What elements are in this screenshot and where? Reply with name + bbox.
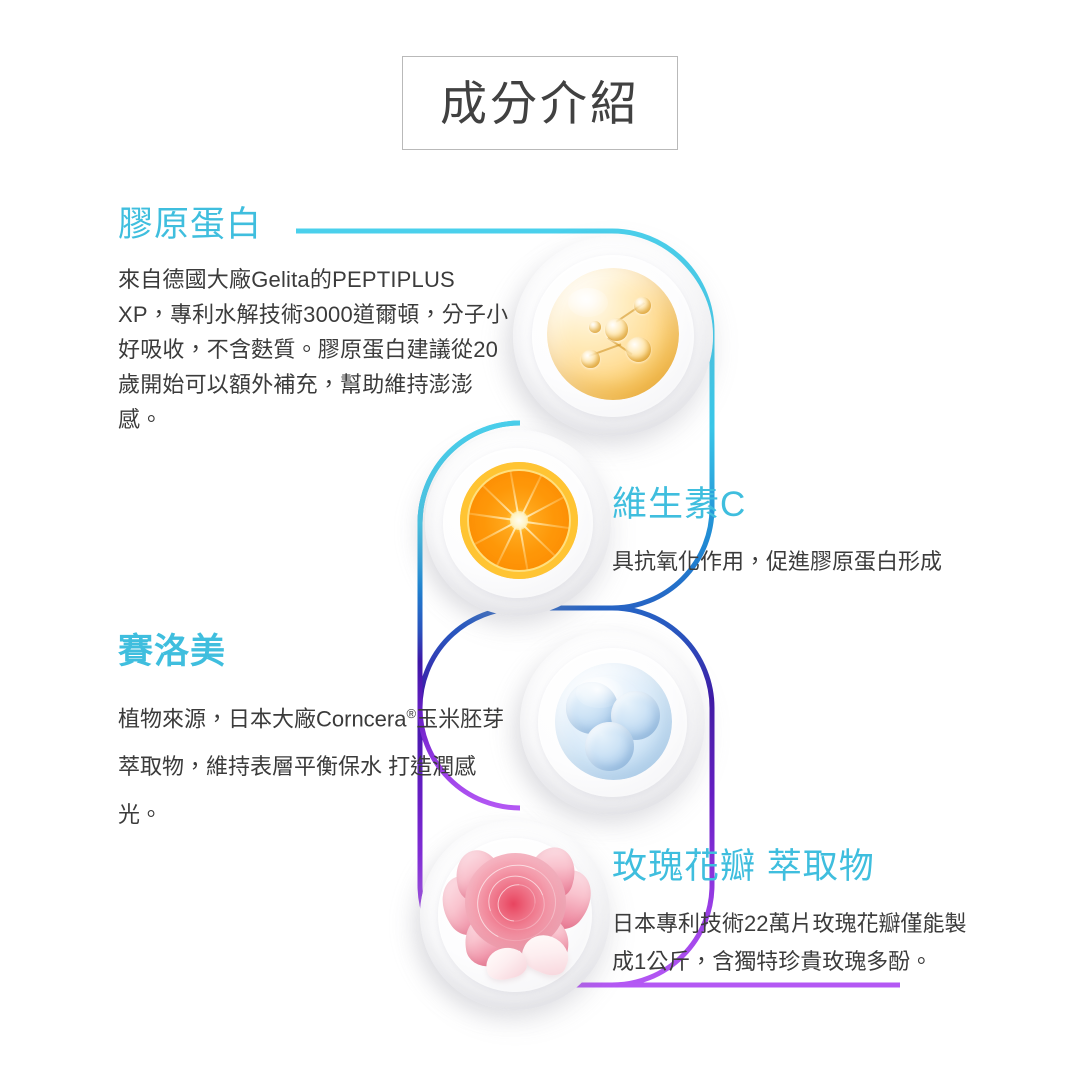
section-body-ceramide: 植物來源，日本大廠Corncera®玉米胚芽萃取物，維持表層平衡保水 打造潤感光…	[118, 690, 518, 839]
section-body-text: 日本專利技術22萬片玫瑰花瓣僅能製成1公斤，含獨特珍貴玫瑰多酚。	[612, 905, 982, 981]
gel-droplet	[547, 268, 679, 400]
page-title-box: 成分介紹	[402, 56, 678, 150]
ceramide-sheen	[576, 677, 623, 707]
infographic-stage: 成分介紹	[0, 0, 1080, 1080]
section-body-text: 來自德國大廠Gelita的PEPTIPLUS XP，專利水解技術3000道爾頓，…	[118, 262, 510, 437]
registered-trademark-icon: ®	[406, 706, 416, 721]
orange-rind	[460, 462, 577, 579]
gel-highlight	[568, 288, 608, 317]
section-body-text: 具抗氧化作用，促進膠原蛋白形成	[612, 545, 1012, 579]
ceramide-bubbles-image	[520, 630, 705, 815]
gel-bubble	[605, 318, 627, 340]
collagen-gel-droplet-image	[513, 236, 713, 436]
orange-slice	[460, 462, 577, 579]
section-body-text: 植物來源，日本大廠Corncera®玉米胚芽萃取物，維持表層平衡保水 打造潤感光…	[118, 690, 518, 839]
rose-bloom	[449, 843, 586, 980]
gel-bubble	[581, 350, 599, 368]
rose-flower-image	[420, 820, 610, 1010]
rose-body	[440, 835, 593, 988]
gel-bubble	[589, 321, 601, 333]
page-title: 成分介紹	[440, 80, 640, 127]
section-body-collagen: 來自德國大廠Gelita的PEPTIPLUS XP，專利水解技術3000道爾頓，…	[118, 262, 510, 437]
section-heading-collagen: 膠原蛋白	[118, 207, 262, 242]
ceramide-sphere	[555, 663, 672, 780]
ceramide-bubble	[585, 722, 634, 771]
section-heading-vitamin-c: 維生素C	[612, 487, 746, 522]
orange-body	[460, 462, 577, 579]
gel-body	[547, 268, 679, 400]
section-body-vitamin-c: 具抗氧化作用，促進膠原蛋白形成	[612, 545, 1012, 579]
orange-slice-image	[425, 430, 611, 616]
section-body-rose-petal: 日本專利技術22萬片玫瑰花瓣僅能製成1公斤，含獨特珍貴玫瑰多酚。	[612, 905, 982, 981]
ceramide-body	[555, 663, 672, 780]
ceramide-body-lead: 植物來源，日本大廠Corncera	[118, 706, 406, 731]
section-heading-ceramide: 賽洛美	[118, 634, 226, 669]
gel-bubble	[634, 297, 651, 314]
gel-bubble	[626, 337, 651, 362]
section-heading-rose-petal: 玫瑰花瓣 萃取物	[612, 849, 875, 884]
